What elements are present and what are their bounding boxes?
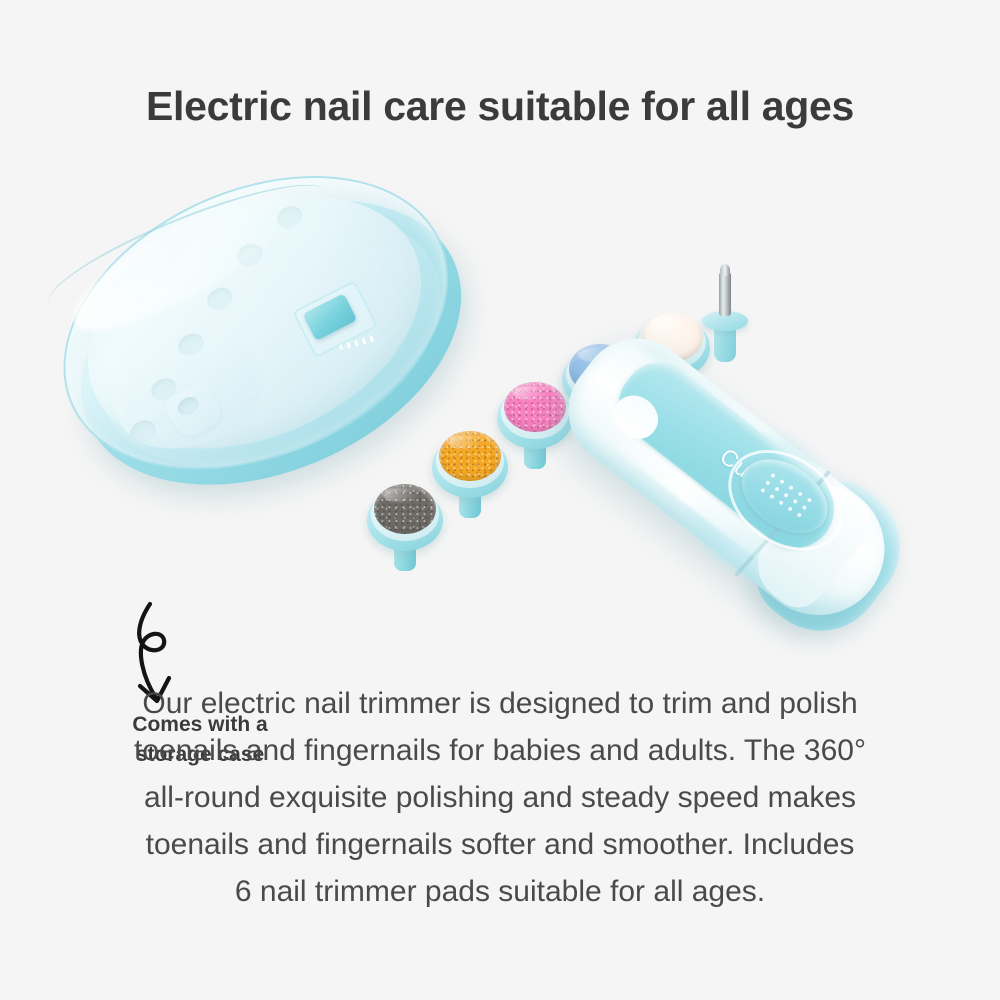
marketing-image: Electric nail care suitable for all ages — [0, 0, 1000, 1000]
description-line-3: all-round exquisite polishing and steady… — [50, 774, 950, 821]
product-hero-image: Cubble Comes with a storage case — [0, 160, 1000, 660]
description-line-2: toenails and fingernails for babies and … — [50, 727, 950, 774]
page-title: Electric nail care suitable for all ages — [0, 83, 1000, 130]
nail-trimmer-handle[interactable]: Cubble — [504, 269, 956, 702]
pad-highlight — [513, 386, 547, 400]
case-lid-seam — [37, 163, 338, 333]
bit-tip — [720, 264, 730, 276]
pad-highlight — [383, 488, 417, 502]
pad-highlight — [448, 435, 482, 449]
product-description: Our electric nail trimmer is designed to… — [50, 680, 950, 915]
description-line-4: toenails and fingernails softer and smoo… — [50, 821, 950, 868]
bit-shaft — [719, 272, 731, 316]
description-line-5: 6 nail trimmer pads suitable for all age… — [50, 868, 950, 915]
description-line-1: Our electric nail trimmer is designed to… — [50, 680, 950, 727]
